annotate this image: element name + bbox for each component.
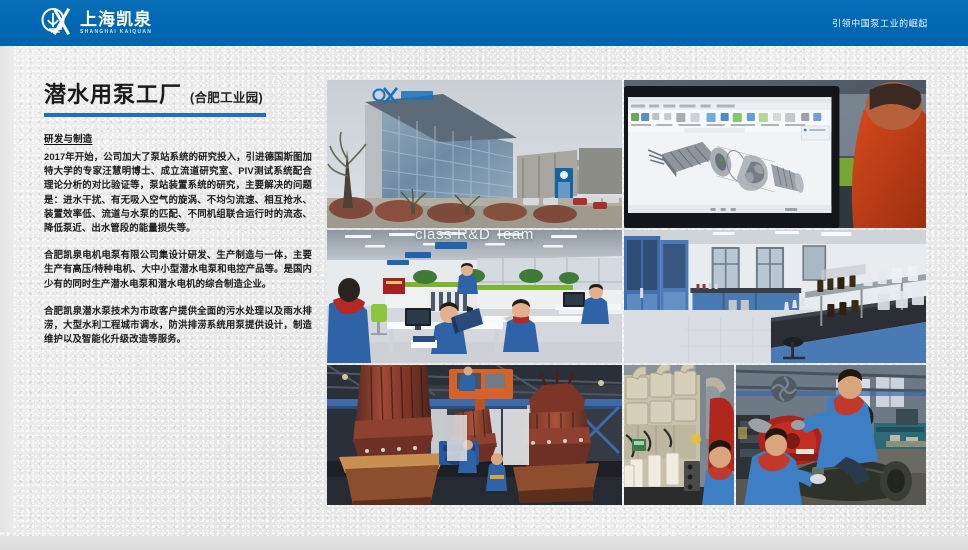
title-underline-rule [44, 113, 266, 117]
background-bottom-edge [0, 536, 968, 550]
text-column: 潜水用泵工厂 (合肥工业园) 研发与制造 2017年开始，公司加大了泵站系统的研… [44, 82, 312, 346]
page-header: 上海凯泉 SHANGHAI KAIQUAN 引领中国泵工业的崛起 [0, 0, 968, 46]
kaiquan-ox-logo-icon [40, 7, 73, 38]
photo-pump-assembly[interactable] [736, 365, 926, 505]
brand-logo[interactable]: 上海凯泉 SHANGHAI KAIQUAN [40, 7, 152, 38]
photo-laboratory[interactable] [624, 230, 926, 363]
photo-building[interactable] [327, 80, 622, 228]
photo-building-image [327, 80, 622, 228]
brand-name-cn: 上海凯泉 [80, 10, 152, 29]
header-slogan: 引领中国泵工业的崛起 [832, 17, 928, 30]
photo-rd-office[interactable]: class R&D Team [327, 230, 622, 363]
photo-diesel-engine[interactable] [624, 365, 734, 505]
photo-laboratory-image [624, 230, 926, 363]
brand-logo-text: 上海凯泉 SHANGHAI KAIQUAN [80, 10, 152, 36]
page-title-subtitle: (合肥工业园) [190, 87, 263, 106]
photo-rd-office-image [327, 230, 622, 363]
page-title: 潜水用泵工厂 (合肥工业园) [44, 82, 312, 108]
slide-root: 上海凯泉 SHANGHAI KAIQUAN 引领中国泵工业的崛起 潜水用泵工厂 … [0, 0, 968, 550]
page-title-main: 潜水用泵工厂 [44, 82, 182, 108]
photo-diesel-engine-image [624, 365, 734, 505]
body-paragraph-3: 合肥凯泉潜水泵技术为市政客户提供全面的污水处理以及雨水排涝，大型水利工程城市调水… [44, 304, 312, 347]
body-paragraph-2: 合肥凯泉电机电泵有限公司集设计研发、生产制造与一体，主要生产有高压/特种电机、大… [44, 248, 312, 291]
brand-name-en: SHANGHAI KAIQUAN [80, 29, 152, 36]
background-left-edge [0, 45, 14, 532]
photo-gallery: class R&D Team [327, 80, 924, 503]
section-heading: 研发与制造 [44, 131, 312, 145]
photo-pump-hall[interactable] [327, 365, 622, 505]
photo-pump-hall-image [327, 365, 622, 505]
photo-cad-workstation[interactable] [624, 80, 926, 228]
body-paragraph-1: 2017年开始，公司加大了泵站系统的研究投入，引进德国斯图加特大学的专家汪慧明博… [44, 150, 312, 235]
photo-cad-workstation-image [624, 80, 926, 228]
photo-pump-assembly-image [736, 365, 926, 505]
